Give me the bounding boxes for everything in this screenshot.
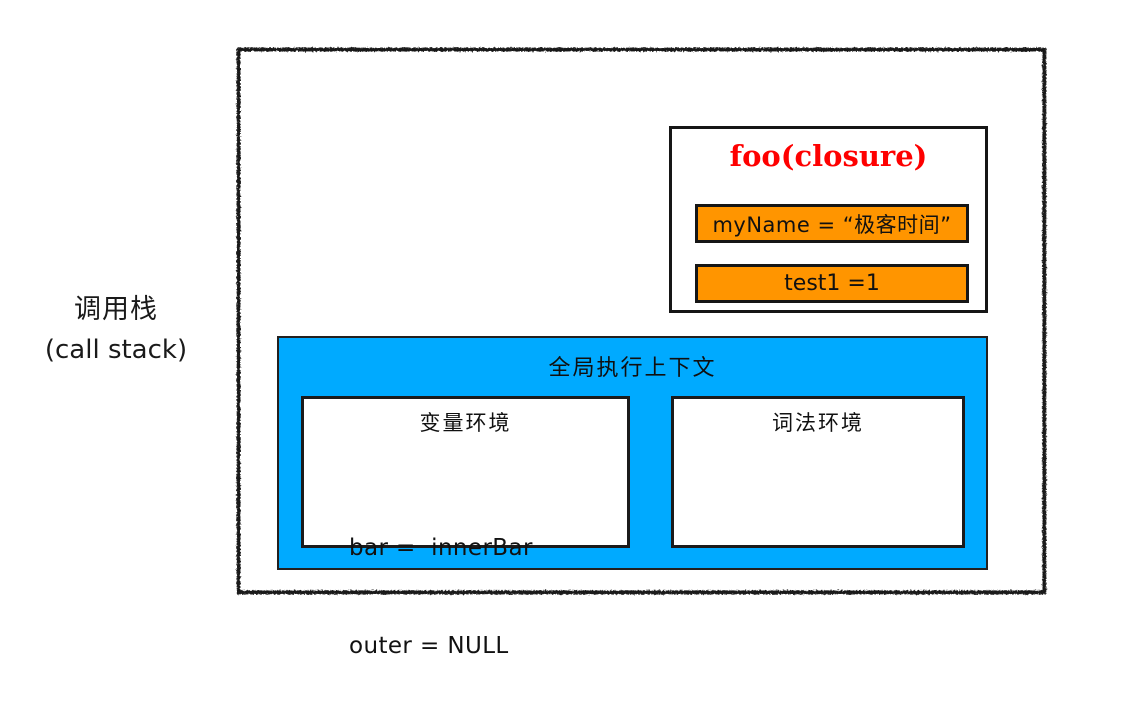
lexical-environment-title: 词法环境 [674,407,962,437]
call-stack-label: 调用栈 (call stack) [0,292,232,367]
foo-closure-frame: foo(closure) myName = “极客时间” test1 =1 [669,126,988,313]
variable-chip-test1-label: test1 =1 [784,271,880,296]
variable-environment-entries: bar = innerBar outer = NULL [349,467,533,728]
variable-chip-myname: myName = “极客时间” [695,204,969,243]
foo-closure-title: foo(closure) [672,139,985,173]
variable-environment-box: 变量环境 bar = innerBar outer = NULL [301,396,630,548]
lexical-environment-box: 词法环境 [671,396,965,548]
variable-environment-entry-outer: outer = NULL [349,630,533,663]
call-stack-label-chinese: 调用栈 [0,292,232,328]
variable-chip-test1: test1 =1 [695,264,969,303]
variable-environment-title: 变量环境 [304,407,627,437]
call-stack-label-english: (call stack) [0,333,232,367]
variable-chip-myname-label: myName = “极客时间” [712,209,951,239]
variable-environment-entry-bar: bar = innerBar [349,532,533,565]
global-execution-context-title: 全局执行上下文 [279,350,986,382]
global-execution-context: 全局执行上下文 变量环境 bar = innerBar outer = NULL… [277,336,988,570]
